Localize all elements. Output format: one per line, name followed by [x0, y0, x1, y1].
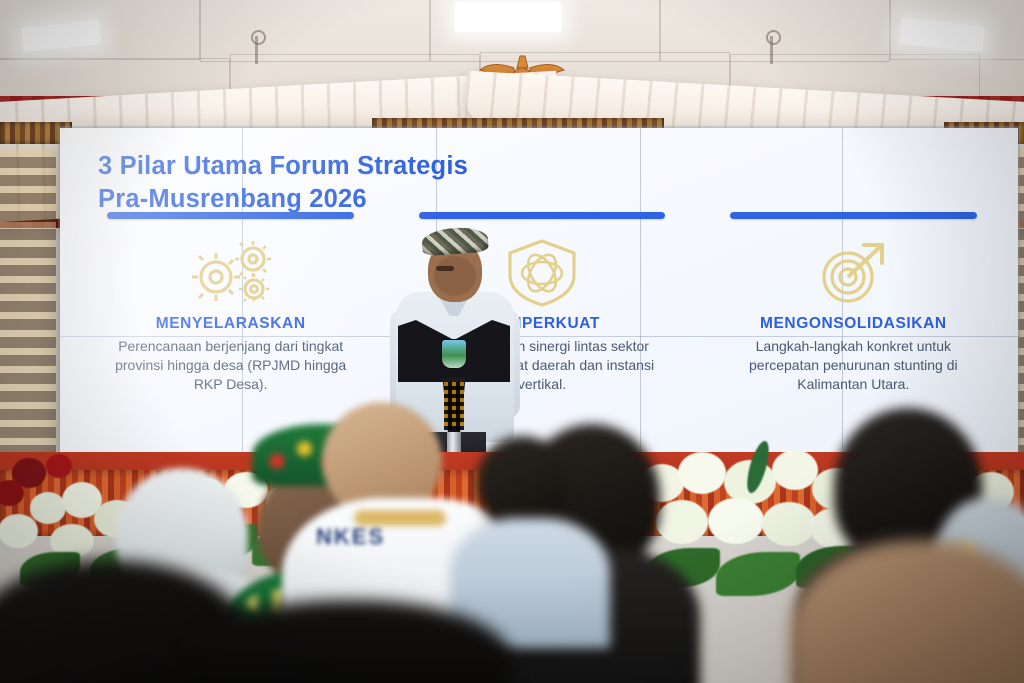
pillars-row: MENYELARASKAN Perencanaan berjenjang dar… — [84, 212, 1000, 393]
ceiling-hook — [770, 36, 773, 64]
ornamental-pillar-left — [0, 150, 56, 480]
gears-icon — [183, 237, 279, 309]
slide-title: 3 Pilar Utama Forum Strategis Pra-Musren… — [98, 150, 658, 215]
pillar-heading: MENYELARASKAN — [156, 315, 306, 333]
podium-coat-of-arms — [441, 339, 467, 369]
attendee-blue-shirt — [470, 436, 600, 636]
pillar-mengonsolidasikan: MENGONSOLIDASIKAN Langkah-langkah konkre… — [707, 212, 1000, 393]
slide-title-line-2: Pra-Musrenbang 2026 — [98, 183, 658, 216]
pillar-accent-rule — [107, 212, 353, 219]
polo-shirt-text: NKES — [316, 524, 436, 550]
pillar-body: Perencanaan berjenjang dari tingkat prov… — [115, 337, 347, 393]
target-arrow-icon — [812, 237, 894, 309]
ceiling-light — [455, 2, 561, 32]
ceiling-hook — [255, 36, 258, 64]
slide-title-line-1: 3 Pilar Utama Forum Strategis — [98, 150, 658, 183]
pillar-heading: MENGONSOLIDASIKAN — [760, 315, 947, 333]
pillar-menyelaraskan: MENYELARASKAN Perencanaan berjenjang dar… — [84, 212, 377, 393]
pillar-body: Langkah-langkah konkret untuk percepatan… — [737, 337, 969, 393]
pillar-accent-rule — [730, 212, 976, 219]
batik-cap — [421, 226, 489, 257]
photo-scene: 3 Pilar Utama Forum Strategis Pra-Musren… — [0, 0, 1024, 683]
